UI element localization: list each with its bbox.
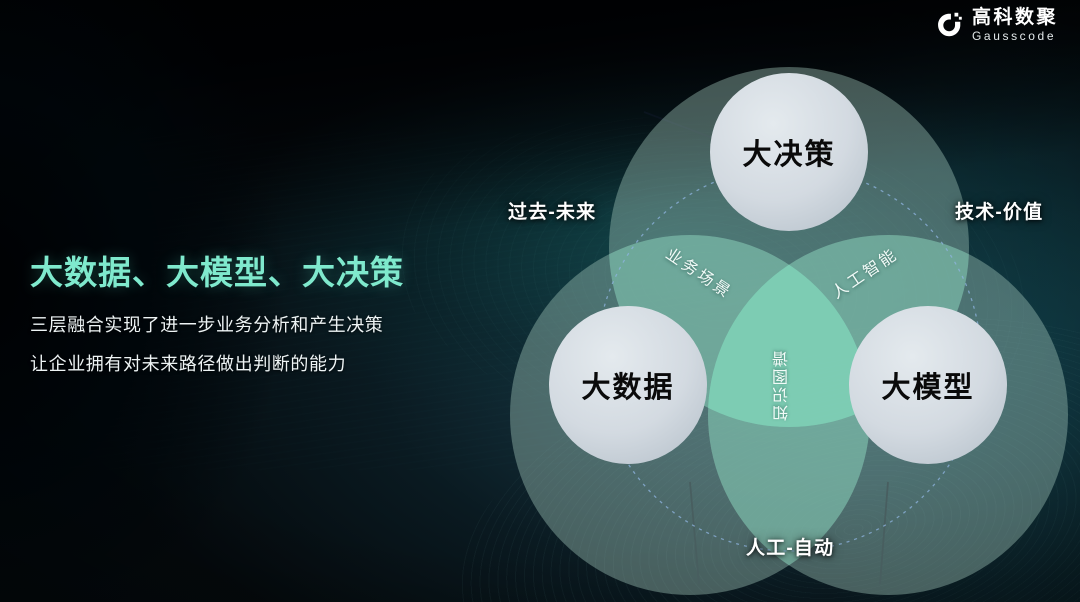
logo-wordmark: 高科数聚 Gausscode bbox=[972, 8, 1058, 42]
axis-label-tech-value: 技术-价值 bbox=[955, 197, 1043, 224]
slide-root: 高科数聚 Gausscode 大数据、大模型、大决策 三层融合实现了进一步业务分… bbox=[0, 0, 1080, 602]
gausscode-g-mark-icon bbox=[935, 11, 963, 39]
venn-diagram bbox=[494, 12, 1080, 590]
page-title: 大数据、大模型、大决策 bbox=[30, 252, 470, 293]
axis-label-past-future: 过去-未来 bbox=[508, 197, 596, 224]
axis-label-manual-auto: 人工-自动 bbox=[746, 533, 834, 560]
subtitle-line-2: 让企业拥有对未来路径做出判断的能力 bbox=[30, 352, 470, 376]
brand-logo: 高科数聚 Gausscode bbox=[935, 8, 1058, 42]
logo-english-name: Gausscode bbox=[972, 30, 1058, 42]
venn-core-label-bigmodel: 大模型 bbox=[881, 364, 974, 406]
subtitle-line-1: 三层融合实现了进一步业务分析和产生决策 bbox=[30, 313, 470, 337]
venn-overlap-label-knowledge-graph: 知识图谱 bbox=[771, 349, 795, 421]
venn-core-label-bigdata: 大数据 bbox=[581, 364, 674, 406]
venn-core-label-decision: 大决策 bbox=[742, 131, 835, 173]
logo-chinese-name: 高科数聚 bbox=[972, 8, 1058, 27]
left-text-block: 大数据、大模型、大决策 三层融合实现了进一步业务分析和产生决策 让企业拥有对未来… bbox=[30, 252, 470, 376]
